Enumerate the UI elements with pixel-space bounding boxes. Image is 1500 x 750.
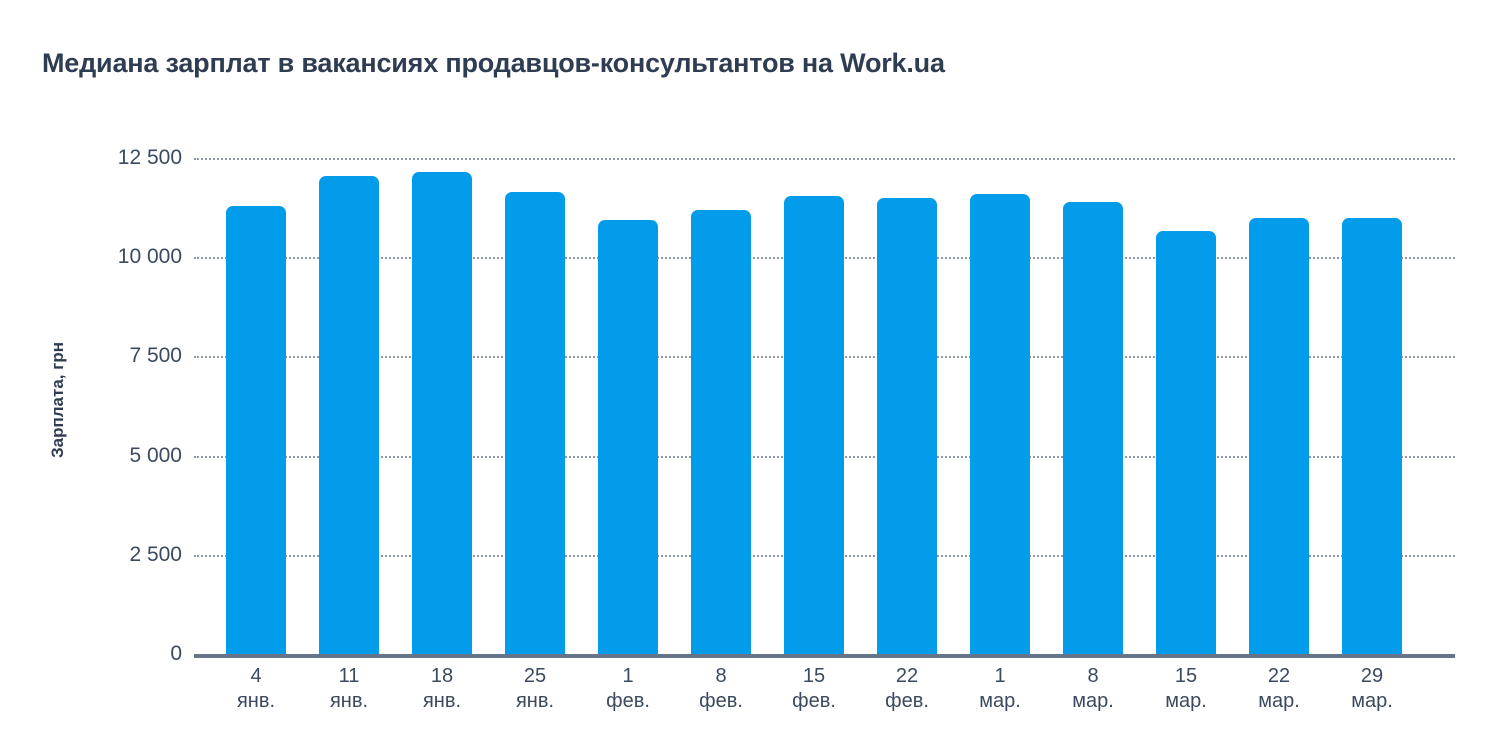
y-axis-tick-label: 5 000 <box>22 445 182 466</box>
chart-container: Медиана зарплат в вакансиях продавцов-ко… <box>0 0 1500 750</box>
y-axis-tick-label: 0 <box>22 643 182 664</box>
bar[interactable] <box>598 220 658 654</box>
y-axis-tick-label: 10 000 <box>22 246 182 267</box>
bar[interactable] <box>1063 202 1123 654</box>
y-axis-title: Зарплата, грн <box>44 300 72 500</box>
x-axis-line <box>194 654 1455 658</box>
bar[interactable] <box>784 196 844 654</box>
x-axis-tick-day: 29 <box>1317 664 1427 689</box>
bar[interactable] <box>1156 231 1216 654</box>
bar[interactable] <box>970 194 1030 654</box>
x-axis-tick-month: мар. <box>1317 689 1427 714</box>
bar[interactable] <box>1249 218 1309 654</box>
bar[interactable] <box>691 210 751 654</box>
bar[interactable] <box>226 206 286 654</box>
page-title: Медиана зарплат в вакансиях продавцов-ко… <box>42 48 945 79</box>
y-axis-tick-label: 12 500 <box>22 147 182 168</box>
gridline <box>194 158 1455 160</box>
bar[interactable] <box>319 176 379 654</box>
bar[interactable] <box>412 172 472 654</box>
y-axis-tick-label: 7 500 <box>22 345 182 366</box>
y-axis-tick-label: 2 500 <box>22 544 182 565</box>
x-axis-tick-label: 29мар. <box>1317 664 1427 714</box>
plot-area <box>194 150 1455 654</box>
bar[interactable] <box>877 198 937 654</box>
bar[interactable] <box>1342 218 1402 654</box>
bar[interactable] <box>505 192 565 654</box>
